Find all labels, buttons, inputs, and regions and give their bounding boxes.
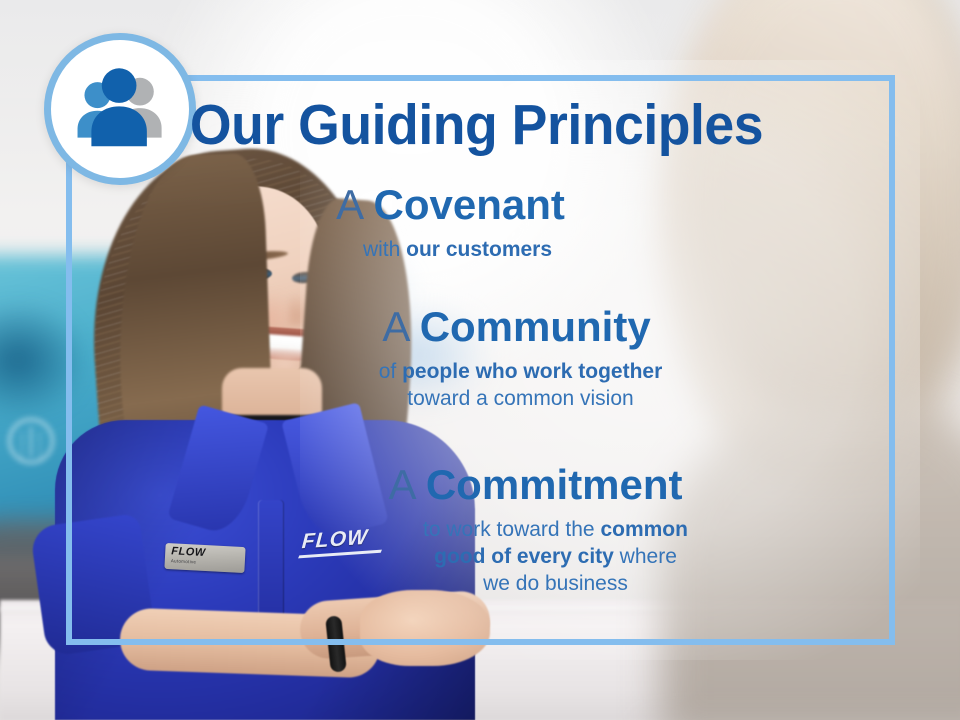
subtext-plain: with <box>363 238 406 261</box>
subtext-line: toward a common vision <box>146 386 895 413</box>
principle-community-subtext: of people who work togethertoward a comm… <box>66 359 895 413</box>
subtext-emphasis: people who work together <box>402 360 662 383</box>
principle-commitment-title: A Commitment <box>66 463 895 507</box>
principle-covenant-article: A <box>336 181 373 228</box>
page-title: Our Guiding Principles <box>91 97 863 154</box>
principle-community-keyword: Community <box>420 303 651 350</box>
principle-community-article: A <box>382 303 419 350</box>
subtext-emphasis: our customers <box>406 238 552 261</box>
subtext-line: to work toward the common <box>216 517 895 544</box>
banner-canvas: FLOW FLOW Automotive <box>0 0 960 720</box>
subtext-plain: we do business <box>483 572 628 595</box>
subtext-plain: toward a common vision <box>407 387 633 410</box>
subtext-plain: where <box>614 545 677 568</box>
subtext-plain: of <box>379 360 402 383</box>
subtext-line: of people who work together <box>146 359 895 386</box>
principle-community: A Community of people who work togethert… <box>66 305 895 413</box>
subtext-emphasis: common <box>600 518 688 541</box>
principle-community-title: A Community <box>66 305 895 349</box>
principle-covenant-subtext: with our customers <box>66 237 895 264</box>
principle-covenant: A Covenant with our customers <box>66 183 895 264</box>
principle-commitment-subtext: to work toward the commongood of every c… <box>66 517 895 598</box>
principle-covenant-keyword: Covenant <box>374 181 565 228</box>
principle-commitment: A Commitment to work toward the commongo… <box>66 463 895 598</box>
text-content: Our Guiding Principles A Covenant with o… <box>66 75 895 645</box>
subtext-line: we do business <box>216 571 895 598</box>
subtext-emphasis: good of every city <box>434 545 614 568</box>
subtext-line: with our customers <box>66 237 849 264</box>
principle-commitment-keyword: Commitment <box>426 461 683 508</box>
subtext-plain: to work toward the <box>423 518 600 541</box>
principle-commitment-article: A <box>388 461 425 508</box>
principle-covenant-title: A Covenant <box>66 183 895 227</box>
subtext-line: good of every city where <box>216 544 895 571</box>
